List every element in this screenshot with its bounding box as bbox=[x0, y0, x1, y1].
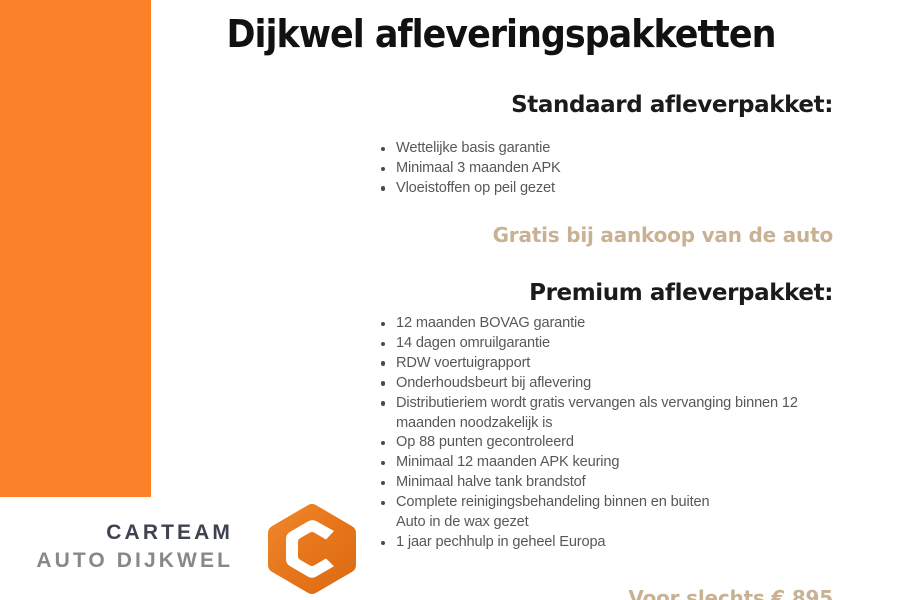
list-item: Vloeistoffen op peil gezet bbox=[380, 179, 840, 199]
brand-name-auto-dijkwel: AUTO DIJKWEL bbox=[0, 546, 233, 575]
list-item: Op 88 punten gecontroleerd bbox=[380, 433, 840, 453]
list-item: RDW voertuigrapport bbox=[380, 354, 840, 374]
poster-canvas: Dijkwel afleveringspakketten Standaard a… bbox=[0, 0, 902, 600]
list-item: 14 dagen omruilgarantie bbox=[380, 334, 840, 354]
list-item: Complete reinigingsbehandeling binnen en… bbox=[380, 493, 840, 513]
carteam-hexagon-c-logo-icon bbox=[256, 497, 368, 600]
list-item: 12 maanden BOVAG garantie bbox=[380, 314, 840, 334]
list-item: Minimaal 3 maanden APK bbox=[380, 159, 840, 179]
list-item: Minimaal 12 maanden APK keuring bbox=[380, 453, 840, 473]
standaard-package-heading: Standaard afleverpakket: bbox=[213, 92, 833, 118]
list-item: Onderhoudsbeurt bij aflevering bbox=[380, 374, 840, 394]
standaard-price-note: Gratis bij aankoop van de auto bbox=[213, 223, 833, 247]
brand-name-carteam: CARTEAM bbox=[0, 519, 233, 546]
standaard-package-list: Wettelijke basis garantie Minimaal 3 maa… bbox=[380, 139, 840, 199]
brand-wordmark: CARTEAM AUTO DIJKWEL bbox=[0, 519, 233, 575]
premium-package-list: 12 maanden BOVAG garantie 14 dagen omrui… bbox=[380, 314, 840, 553]
orange-accent-bar bbox=[0, 0, 151, 497]
premium-package-heading: Premium afleverpakket: bbox=[213, 280, 833, 306]
list-item: Auto in de wax gezet bbox=[380, 513, 840, 533]
list-item: Distributieriem wordt gratis vervangen a… bbox=[380, 394, 840, 434]
list-item: 1 jaar pechhulp in geheel Europa bbox=[380, 533, 840, 553]
list-item: Minimaal halve tank brandstof bbox=[380, 473, 840, 493]
list-item: Wettelijke basis garantie bbox=[380, 139, 840, 159]
page-title: Dijkwel afleveringspakketten bbox=[179, 12, 823, 56]
